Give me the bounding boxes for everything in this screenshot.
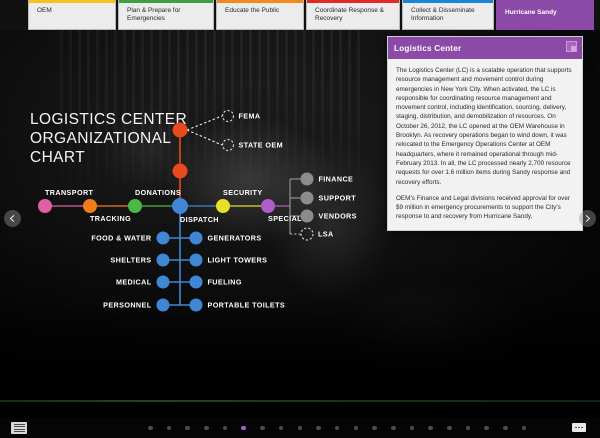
pagination-dot[interactable] <box>372 426 377 431</box>
info-paragraph: OEM's Finance and Legal divisions receiv… <box>396 194 574 222</box>
tab-accent-bar <box>306 0 400 3</box>
info-panel-title: Logistics Center <box>394 44 461 53</box>
slide-pagination[interactable] <box>148 418 526 438</box>
pagination-dot[interactable] <box>466 426 471 431</box>
node-label: SHELTERS <box>110 256 151 265</box>
pagination-dot[interactable] <box>335 426 340 431</box>
node-label: LIGHT TOWERS <box>208 256 268 265</box>
pagination-dot[interactable] <box>204 426 209 431</box>
node-label: MEDICAL <box>116 278 152 287</box>
info-panel: Logistics Center The Logistics Center (L… <box>387 36 583 231</box>
info-panel-body: The Logistics Center (LC) is a scalable … <box>388 59 582 230</box>
node-label: TRACKING <box>90 214 131 223</box>
tab-label: Plan & Prepare for Emergencies <box>127 7 180 22</box>
menu-line <box>14 424 25 425</box>
tab-label: Hurricane Sandy <box>505 9 557 16</box>
expand-icon[interactable] <box>566 41 577 52</box>
section-tab-bar: OEM Plan & Prepare for Emergencies Educa… <box>0 0 600 30</box>
pagination-dot[interactable] <box>447 426 452 431</box>
tab-accent-bar <box>216 0 304 3</box>
tab-label: Collect & Disseminate Information <box>411 7 475 22</box>
info-paragraph: The Logistics Center (LC) is a scalable … <box>396 66 574 187</box>
prev-slide-button[interactable] <box>4 210 21 227</box>
list-menu-icon[interactable] <box>11 422 27 434</box>
chevron-right-icon <box>583 214 592 223</box>
tab-plan-prepare[interactable]: Plan & Prepare for Emergencies <box>118 0 214 30</box>
menu-line <box>14 426 25 427</box>
node-label: FOOD & WATER <box>91 234 152 243</box>
pagination-dot[interactable] <box>223 426 228 431</box>
pagination-dot[interactable] <box>316 426 321 431</box>
pagination-dot[interactable] <box>391 426 396 431</box>
pagination-dot[interactable] <box>298 426 303 431</box>
node-label: DONATIONS <box>135 188 181 197</box>
pagination-dot[interactable] <box>167 426 172 431</box>
pagination-dot[interactable] <box>410 426 415 431</box>
node-label: TRANSPORT <box>45 188 94 197</box>
next-slide-button[interactable] <box>579 210 596 227</box>
more-dot <box>575 427 577 429</box>
node-label: SUPPORT <box>319 194 357 203</box>
pagination-dot[interactable] <box>279 426 284 431</box>
node-label: GENERATORS <box>208 234 262 243</box>
menu-line <box>14 431 25 432</box>
tab-label: Educate the Public <box>225 7 279 14</box>
node-label: FINANCE <box>319 175 354 184</box>
tab-label: OEM <box>37 7 52 14</box>
bottom-toolbar <box>0 418 600 438</box>
pagination-dot[interactable] <box>260 426 265 431</box>
pagination-dot[interactable] <box>241 426 246 431</box>
presentation-viewer: OEM Plan & Prepare for Emergencies Educa… <box>0 0 600 438</box>
pagination-dot[interactable] <box>522 426 527 431</box>
tab-educate-public[interactable]: Educate the Public <box>216 0 304 30</box>
tab-accent-bar <box>402 0 494 3</box>
tab-collect-disseminate[interactable]: Collect & Disseminate Information <box>402 0 494 30</box>
node-label: DISPATCH <box>180 215 219 224</box>
chevron-left-icon <box>8 214 17 223</box>
menu-line <box>14 429 25 430</box>
info-panel-header: Logistics Center <box>388 37 582 59</box>
tab-accent-bar <box>28 0 116 3</box>
tab-hurricane-sandy[interactable]: Hurricane Sandy <box>496 0 594 30</box>
node-label: FEMA <box>239 112 261 121</box>
tab-oem[interactable]: OEM <box>28 0 116 30</box>
node-label: FUELING <box>208 278 242 287</box>
node-label: VENDORS <box>319 212 357 221</box>
pagination-dot[interactable] <box>484 426 489 431</box>
tab-coordinate-response[interactable]: Coordinate Response & Recovery <box>306 0 400 30</box>
node-label: PORTABLE TOILETS <box>208 301 286 310</box>
tab-label: Coordinate Response & Recovery <box>315 7 384 22</box>
node-label: SPECIAL <box>268 214 302 223</box>
node-label: STATE OEM <box>239 141 283 150</box>
pagination-dot[interactable] <box>428 426 433 431</box>
node-label: PERSONNEL <box>103 301 152 310</box>
pagination-dot[interactable] <box>503 426 508 431</box>
more-dot <box>581 427 583 429</box>
pagination-dot[interactable] <box>185 426 190 431</box>
tab-accent-bar <box>118 0 214 3</box>
pagination-dot[interactable] <box>354 426 359 431</box>
pagination-dot[interactable] <box>148 426 153 431</box>
node-label: LSA <box>318 230 334 239</box>
more-dot <box>578 427 580 429</box>
node-label: SECURITY <box>223 188 263 197</box>
more-options-icon[interactable] <box>572 423 586 432</box>
